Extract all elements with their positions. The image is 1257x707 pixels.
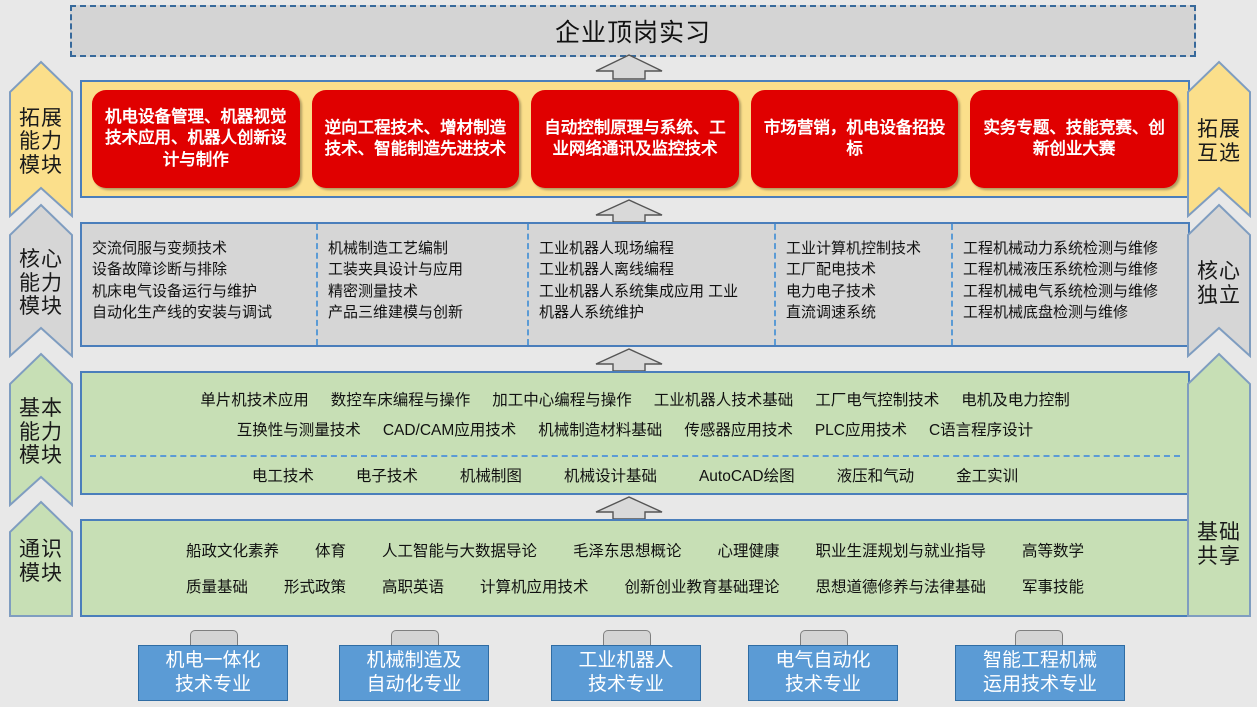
chevron-label-line: 能力 <box>19 272 63 296</box>
core-course: 设备故障诊断与排除 <box>92 259 316 280</box>
chevron-basic-capability-module[interactable]: 基本 能力 模块 <box>8 352 74 507</box>
basic-course: 电子技术 <box>356 464 418 486</box>
chevron-label-line: 模块 <box>19 562 63 586</box>
basic-course: AutoCAD绘图 <box>699 464 795 486</box>
extension-capability-row: 机电设备管理、机器视觉技术应用、机器人创新设计与制作 逆向工程技术、增材制造技术… <box>80 80 1190 198</box>
general-course: 计算机应用技术 <box>480 575 589 597</box>
general-module-row: 船政文化素养 体育 人工智能与大数据导论 毛泽东思想概论 心理健康 职业生涯规划… <box>80 519 1190 617</box>
general-course: 形式政策 <box>284 575 346 597</box>
chevron-extension-capability-module[interactable]: 拓展 能力 模块 <box>8 60 74 218</box>
major-label-line: 技术专业 <box>165 673 260 697</box>
extension-pill[interactable]: 实务专题、技能竞赛、创新创业大赛 <box>970 90 1178 188</box>
major-label-line: 自动化专业 <box>366 673 461 697</box>
core-course: 产品三维建模与创新 <box>328 302 527 323</box>
chevron-label-line: 基本 <box>19 397 63 421</box>
core-course: 机械制造工艺编制 <box>328 238 527 259</box>
chevron-foundation-shared[interactable]: 基础 共享 <box>1186 352 1252 618</box>
chevron-core-independent[interactable]: 核心 独立 <box>1186 203 1252 358</box>
core-column-manufacturing: 机械制造工艺编制 工装夹具设计与应用 精密测量技术 产品三维建模与创新 <box>316 224 527 345</box>
major-label-line: 电气自动化 <box>775 649 870 673</box>
general-line-1: 船政文化素养 体育 人工智能与大数据导论 毛泽东思想概论 心理健康 职业生涯规划… <box>82 539 1188 561</box>
enterprise-internship-banner: 企业顶岗实习 <box>70 5 1196 57</box>
extension-pill[interactable]: 自动控制原理与系统、工业网络通讯及监控技术 <box>531 90 739 188</box>
major-box[interactable]: 机电一体化 技术专业 <box>138 645 288 701</box>
general-course: 质量基础 <box>186 575 248 597</box>
chevron-label-line: 核心 <box>19 248 63 272</box>
general-course: 高职英语 <box>382 575 444 597</box>
chevron-label-line: 互选 <box>1197 142 1241 166</box>
chevron-label-line: 模块 <box>19 444 63 468</box>
major-label-line: 技术专业 <box>775 673 870 697</box>
core-course: 工业机器人离线编程 <box>539 259 774 280</box>
chevron-label-line: 能力 <box>19 421 63 445</box>
basic-course: 机械制图 <box>460 464 522 486</box>
internship-label: 企业顶岗实习 <box>555 13 711 49</box>
basic-course: 工业机器人技术基础 <box>654 388 794 410</box>
core-course: 工业计算机控制技术 <box>786 238 951 259</box>
basic-course: 数控车床编程与操作 <box>331 388 471 410</box>
core-capability-row: 交流伺服与变频技术 设备故障诊断与排除 机床电气设备运行与维护 自动化生产线的安… <box>80 222 1190 347</box>
major-box[interactable]: 机械制造及 自动化专业 <box>339 645 489 701</box>
basic-course: 互换性与测量技术 <box>237 418 361 440</box>
basic-course: 液压和气动 <box>837 464 915 486</box>
chevron-label-line: 拓展 <box>19 107 63 131</box>
basic-course: PLC应用技术 <box>815 418 907 440</box>
chevron-label-line: 能力 <box>19 130 63 154</box>
core-course: 工程机械电气系统检测与维修 <box>963 281 1188 302</box>
major-label-line: 智能工程机械 <box>983 649 1097 673</box>
general-course: 思想道德修养与法律基础 <box>816 575 987 597</box>
up-arrow-to-internship <box>595 54 663 80</box>
extension-pill[interactable]: 逆向工程技术、增材制造技术、智能制造先进技术 <box>312 90 520 188</box>
general-line-2: 质量基础 形式政策 高职英语 计算机应用技术 创新创业教育基础理论 思想道德修养… <box>82 575 1188 597</box>
basic-course: 机械制造材料基础 <box>538 418 662 440</box>
chevron-label-line: 独立 <box>1197 284 1241 308</box>
chevron-core-capability-module[interactable]: 核心 能力 模块 <box>8 203 74 358</box>
chevron-general-module[interactable]: 通识 模块 <box>8 500 74 618</box>
major-box[interactable]: 电气自动化 技术专业 <box>748 645 898 701</box>
up-arrow-to-basic <box>595 496 663 520</box>
general-course: 船政文化素养 <box>186 539 279 561</box>
core-course: 电力电子技术 <box>786 281 951 302</box>
major-label-line: 机械制造及 <box>366 649 461 673</box>
basic-course: 机械设计基础 <box>564 464 657 486</box>
extension-pill[interactable]: 市场营销，机电设备招投标 <box>751 90 959 188</box>
core-course: 工装夹具设计与应用 <box>328 259 527 280</box>
general-course: 军事技能 <box>1022 575 1084 597</box>
general-course: 毛泽东思想概论 <box>573 539 682 561</box>
basic-capability-row: 单片机技术应用 数控车床编程与操作 加工中心编程与操作 工业机器人技术基础 工厂… <box>80 371 1190 495</box>
diagram-canvas: 企业顶岗实习 机电设备管理、机器视觉技术应用、机器人创新设计与制作 逆向工程技术… <box>0 0 1257 707</box>
basic-course: 金工实训 <box>956 464 1018 486</box>
major-label-line: 技术专业 <box>578 673 673 697</box>
extension-pill[interactable]: 机电设备管理、机器视觉技术应用、机器人创新设计与制作 <box>92 90 300 188</box>
chevron-label-line: 通识 <box>19 538 63 562</box>
basic-course: 加工中心编程与操作 <box>492 388 632 410</box>
core-course: 工业机器人系统集成应用 工业 <box>539 281 774 302</box>
core-course: 工程机械液压系统检测与维修 <box>963 259 1188 280</box>
major-label-line: 工业机器人 <box>578 649 673 673</box>
basic-line-1: 单片机技术应用 数控车床编程与操作 加工中心编程与操作 工业机器人技术基础 工厂… <box>82 388 1188 410</box>
basic-course: 电机及电力控制 <box>961 388 1070 410</box>
chevron-label-line: 基础 <box>1197 521 1241 545</box>
major-box[interactable]: 智能工程机械 运用技术专业 <box>955 645 1125 701</box>
core-course: 工业机器人现场编程 <box>539 238 774 259</box>
general-course: 体育 <box>315 539 346 561</box>
general-course: 创新创业教育基础理论 <box>625 575 780 597</box>
core-column-electrical: 工业计算机控制技术 工厂配电技术 电力电子技术 直流调速系统 <box>774 224 951 345</box>
basic-course: CAD/CAM应用技术 <box>383 418 516 440</box>
core-course: 机器人系统维护 <box>539 302 774 323</box>
chevron-label-line: 核心 <box>1197 260 1241 284</box>
basic-course: 工厂电气控制技术 <box>815 388 939 410</box>
core-course: 自动化生产线的安装与调试 <box>92 302 316 323</box>
up-arrow-to-extension <box>595 199 663 223</box>
chevron-label-line: 拓展 <box>1197 118 1241 142</box>
basic-line-3: 电工技术 电子技术 机械制图 机械设计基础 AutoCAD绘图 液压和气动 金工… <box>252 464 1018 486</box>
basic-line-2: 互换性与测量技术 CAD/CAM应用技术 机械制造材料基础 传感器应用技术 PL… <box>82 418 1188 440</box>
core-course: 直流调速系统 <box>786 302 951 323</box>
general-course: 高等数学 <box>1022 539 1084 561</box>
basic-course: 电工技术 <box>252 464 314 486</box>
major-label-line: 机电一体化 <box>165 649 260 673</box>
core-course: 精密测量技术 <box>328 281 527 302</box>
chevron-label-line: 模块 <box>19 154 63 178</box>
up-arrow-to-core <box>595 348 663 372</box>
major-box[interactable]: 工业机器人 技术专业 <box>551 645 701 701</box>
major-label-line: 运用技术专业 <box>983 673 1097 697</box>
core-column-mechatronics: 交流伺服与变频技术 设备故障诊断与排除 机床电气设备运行与维护 自动化生产线的安… <box>82 224 316 345</box>
basic-course: C语言程序设计 <box>929 418 1033 440</box>
core-course: 交流伺服与变频技术 <box>92 238 316 259</box>
general-course: 人工智能与大数据导论 <box>382 539 537 561</box>
basic-course: 单片机技术应用 <box>200 388 309 410</box>
core-course: 机床电气设备运行与维护 <box>92 281 316 302</box>
core-column-engineering-machinery: 工程机械动力系统检测与维修 工程机械液压系统检测与维修 工程机械电气系统检测与维… <box>951 224 1188 345</box>
core-course: 工程机械动力系统检测与维修 <box>963 238 1188 259</box>
chevron-extension-mutual-elective[interactable]: 拓展 互选 <box>1186 60 1252 218</box>
basic-course: 传感器应用技术 <box>684 418 793 440</box>
chevron-label-line: 共享 <box>1197 545 1241 569</box>
core-column-robot: 工业机器人现场编程 工业机器人离线编程 工业机器人系统集成应用 工业 机器人系统… <box>527 224 774 345</box>
core-course: 工程机械底盘检测与维修 <box>963 302 1188 323</box>
general-course: 职业生涯规划与就业指导 <box>816 539 987 561</box>
chevron-label-line: 模块 <box>19 295 63 319</box>
core-course: 工厂配电技术 <box>786 259 951 280</box>
general-course: 心理健康 <box>718 539 780 561</box>
